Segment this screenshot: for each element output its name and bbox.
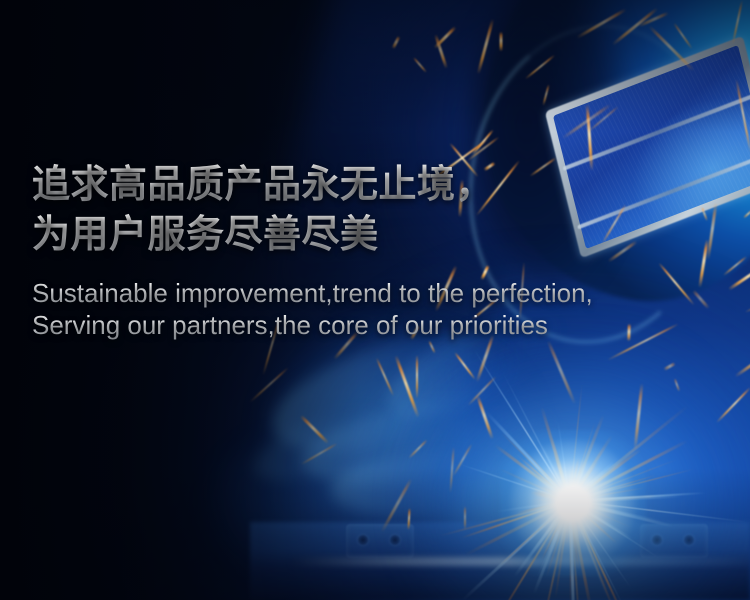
headline-line-2: 为用户服务尽善尽美 [32, 210, 722, 260]
subheadline-block: Sustainable improvement,trend to the per… [32, 277, 722, 341]
subheadline-line-2: Serving our partners,the core of our pri… [32, 309, 722, 341]
banner-copy: 追求高品质产品永无止境， 为用户服务尽善尽美 Sustainable impro… [32, 160, 722, 341]
headline-line-1: 追求高品质产品永无止境， [32, 160, 722, 210]
subheadline-line-1: Sustainable improvement,trend to the per… [32, 277, 722, 309]
hero-banner: 追求高品质产品永无止境， 为用户服务尽善尽美 Sustainable impro… [0, 0, 750, 600]
arc-flash-core [500, 430, 646, 576]
